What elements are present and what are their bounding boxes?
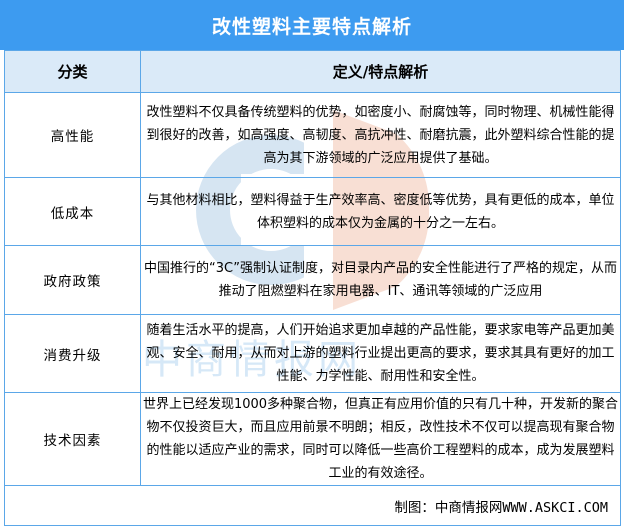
row-category: 消费升级 <box>5 315 141 393</box>
table-row: 政府政策 中国推行的“3C”强制认证制度，对目录内产品的安全性能进行了严格的规定… <box>5 246 621 315</box>
table-header: 分类 定义/特点解析 <box>5 51 621 93</box>
table-row: 高性能 改性塑料不仅具备传统塑料的优势，如密度小、耐腐蚀等，同时物理、机械性能得… <box>5 93 621 178</box>
title-bar: 改性塑料主要特点解析 <box>0 0 624 50</box>
table-row: 技术因素 世界上已经发现1000多种聚合物，但真正有应用价值的只有几十种，开发新… <box>5 393 621 486</box>
column-header-category: 分类 <box>5 51 141 93</box>
row-category: 高性能 <box>5 93 141 178</box>
row-description: 随着生活水平的提高，人们开始追求更加卓越的产品性能，要求家电等产品更加美观、安全… <box>141 315 621 393</box>
table-container: 分类 定义/特点解析 高性能 改性塑料不仅具备传统塑料的优势，如密度小、耐腐蚀等… <box>4 50 620 526</box>
row-description: 改性塑料不仅具备传统塑料的优势，如密度小、耐腐蚀等，同时物理、机械性能得到很好的… <box>141 93 621 178</box>
table-row: 消费升级 随着生活水平的提高，人们开始追求更加卓越的产品性能，要求家电等产品更加… <box>5 315 621 393</box>
row-category: 低成本 <box>5 178 141 246</box>
row-category: 技术因素 <box>5 393 141 486</box>
infographic-page: 改性塑料主要特点解析 中商情报网 分类 定义/特点解析 高性能 改性塑料不仅具备… <box>0 0 624 513</box>
table-row: 低成本 与其他材料相比，塑料得益于生产效率高、密度低等优势，具有更低的成本，单位… <box>5 178 621 246</box>
column-header-definition: 定义/特点解析 <box>141 51 621 93</box>
table-header-row: 分类 定义/特点解析 <box>5 51 621 93</box>
page-title: 改性塑料主要特点解析 <box>212 12 412 39</box>
row-description: 中国推行的“3C”强制认证制度，对目录内产品的安全性能进行了严格的规定，从而推动… <box>141 246 621 315</box>
table-footer-row: 制图：中商情报网WWW.ASKCI.COM <box>5 486 621 526</box>
row-description: 世界上已经发现1000多种聚合物，但真正有应用价值的只有几十种，开发新的聚合物不… <box>141 393 621 486</box>
row-category: 政府政策 <box>5 246 141 315</box>
row-description: 与其他材料相比，塑料得益于生产效率高、密度低等优势，具有更低的成本，单位体积塑料… <box>141 178 621 246</box>
table-body: 高性能 改性塑料不仅具备传统塑料的优势，如密度小、耐腐蚀等，同时物理、机械性能得… <box>5 93 621 526</box>
features-table: 分类 定义/特点解析 高性能 改性塑料不仅具备传统塑料的优势，如密度小、耐腐蚀等… <box>4 50 621 526</box>
credit-text: 制图：中商情报网WWW.ASKCI.COM <box>5 486 621 526</box>
